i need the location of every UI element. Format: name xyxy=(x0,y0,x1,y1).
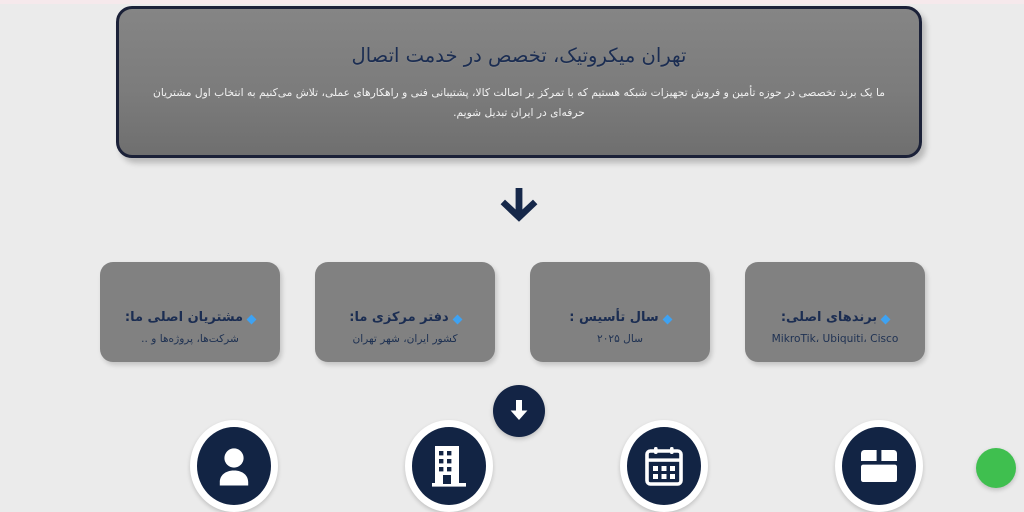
hero-banner: تهران میکروتیک، تخصص در خدمت اتصال ما یک… xyxy=(116,6,922,158)
feature-cards-row: مشتریان اصلی ما: شرکت‌ها، پروژه‌ها و .. … xyxy=(0,210,1024,370)
diamond-bullet-icon xyxy=(452,314,462,324)
card-subtitle: کشور ایران، شهر تهران xyxy=(321,332,489,346)
card-subtitle: شرکت‌ها، پروژه‌ها و .. xyxy=(106,332,274,346)
hero-title: تهران میکروتیک، تخصص در خدمت اتصال xyxy=(352,42,687,69)
card-body: مشتریان اصلی ما: شرکت‌ها، پروژه‌ها و .. xyxy=(100,310,280,346)
box-icon xyxy=(858,447,900,485)
hero-description: ما یک برند تخصصی در حوزه تأمین و فروش تج… xyxy=(149,83,889,123)
card-title: سال تأسیس : xyxy=(569,310,658,327)
building-icon-badge xyxy=(405,420,493,512)
building-icon xyxy=(429,444,469,488)
card-title-row: دفتر مرکزی ما: xyxy=(321,310,489,327)
user-icon-badge xyxy=(190,420,278,512)
feature-card-head-office[interactable]: دفتر مرکزی ما: کشور ایران، شهر تهران xyxy=(315,262,495,362)
whatsapp-float-button[interactable] xyxy=(976,448,1016,488)
card-title-row: مشتریان اصلی ما: xyxy=(106,310,274,327)
card-title-row: برندهای اصلی: xyxy=(751,310,919,327)
card-subtitle: سال ۲۰۲۵ xyxy=(536,332,704,346)
scroll-down-button[interactable] xyxy=(493,385,545,437)
page-top-accent-strip xyxy=(0,0,1024,4)
card-body: دفتر مرکزی ما: کشور ایران، شهر تهران xyxy=(315,310,495,346)
card-title-row: سال تأسیس : xyxy=(536,310,704,327)
calendar-icon-badge xyxy=(620,420,708,512)
diamond-bullet-icon xyxy=(662,314,672,324)
card-title: برندهای اصلی: xyxy=(781,310,877,327)
card-title: دفتر مرکزی ما: xyxy=(349,310,448,327)
hero-description-line-1: ما یک برند تخصصی در حوزه تأمین و فروش تج… xyxy=(195,86,885,99)
feature-card-brands[interactable]: برندهای اصلی: MikroTik، Ubiquiti، Cisco xyxy=(745,262,925,362)
card-body: برندهای اصلی: MikroTik، Ubiquiti، Cisco xyxy=(745,310,925,346)
card-body: سال تأسیس : سال ۲۰۲۵ xyxy=(530,310,710,346)
feature-card-customers[interactable]: مشتریان اصلی ما: شرکت‌ها، پروژه‌ها و .. xyxy=(100,262,280,362)
diamond-bullet-icon xyxy=(881,314,891,324)
diamond-bullet-icon xyxy=(247,314,257,324)
feature-card-founded-year[interactable]: سال تأسیس : سال ۲۰۲۵ xyxy=(530,262,710,362)
user-icon xyxy=(214,445,254,487)
calendar-icon xyxy=(643,445,685,487)
card-title: مشتریان اصلی ما: xyxy=(125,310,243,327)
card-subtitle: MikroTik، Ubiquiti، Cisco xyxy=(751,332,919,346)
arrow-down-circle-icon xyxy=(506,397,532,426)
box-icon-badge xyxy=(835,420,923,512)
